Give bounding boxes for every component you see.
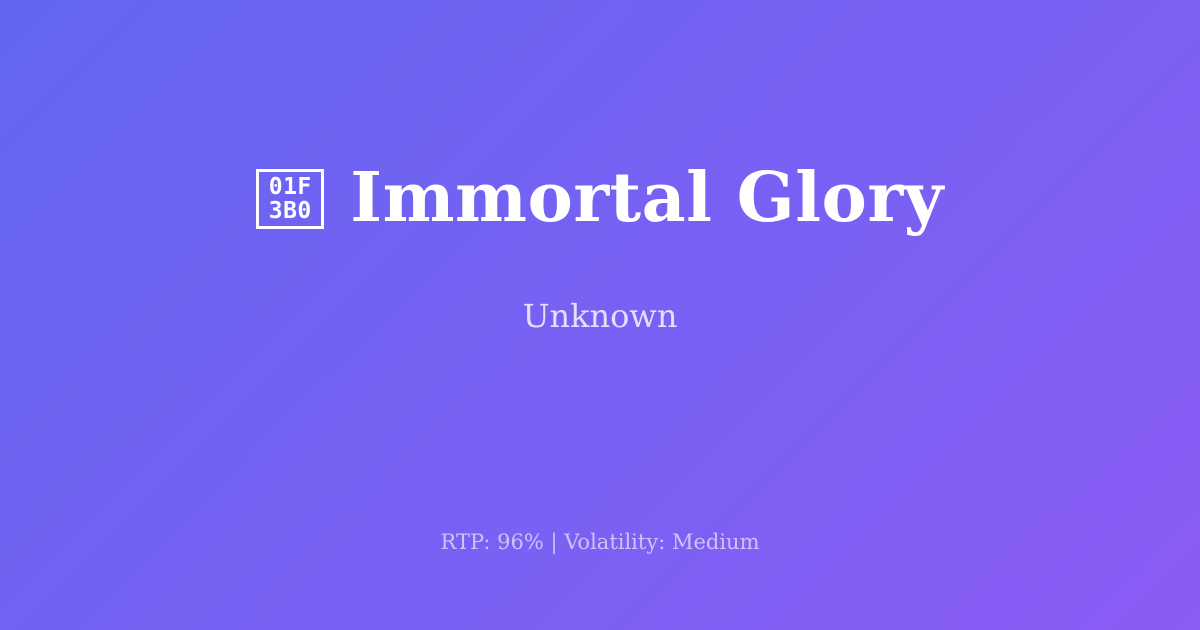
slot-machine-icon: 01F 3B0 bbox=[256, 169, 324, 229]
game-provider-subtitle: Unknown bbox=[523, 297, 678, 335]
card-center-block: 01F 3B0 Immortal Glory Unknown bbox=[0, 0, 1200, 498]
title-row: 01F 3B0 Immortal Glory bbox=[60, 163, 1140, 234]
game-title: Immortal Glory bbox=[350, 163, 943, 234]
slot-machine-icon-hex-top: 01F bbox=[269, 175, 312, 199]
game-stats-footer: RTP: 96% | Volatility: Medium bbox=[0, 530, 1200, 555]
game-preview-card: 01F 3B0 Immortal Glory Unknown RTP: 96% … bbox=[0, 0, 1200, 630]
slot-machine-icon-hex-bottom: 3B0 bbox=[269, 199, 312, 223]
